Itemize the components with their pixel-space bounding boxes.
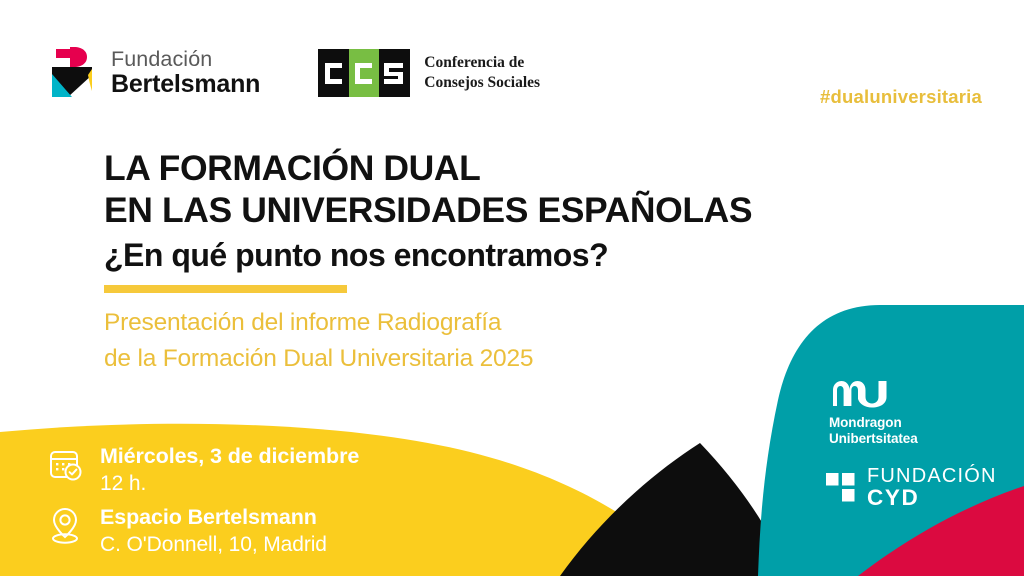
bertelsmann-wordmark: Fundación Bertelsmann <box>111 49 260 98</box>
event-date: Miércoles, 3 de diciembre <box>100 443 359 471</box>
event-date-text: Miércoles, 3 de diciembre 12 h. <box>100 443 359 497</box>
subtitle-block: Presentación del informe Radiografía de … <box>104 305 533 376</box>
logo-bar: Fundación Bertelsmann <box>48 45 540 101</box>
event-details: Miércoles, 3 de diciembre 12 h. Espacio … <box>48 443 359 559</box>
mondragon-line1: Mondragon <box>829 415 918 431</box>
logo-fundacion-bertelsmann: Fundación Bertelsmann <box>48 45 260 101</box>
subtitle-line2: de la Formación Dual Universitaria 2025 <box>104 341 533 377</box>
ccs-mark-icon <box>318 49 410 97</box>
mondragon-mu-mark-icon <box>829 378 891 408</box>
yellow-divider-rule <box>104 285 347 293</box>
logo-conferencia-consejos-sociales: Conferencia de Consejos Sociales <box>318 49 540 97</box>
event-address: C. O'Donnell, 10, Madrid <box>100 532 327 559</box>
ccs-wordmark: Conferencia de Consejos Sociales <box>424 53 540 94</box>
map-pin-icon <box>48 506 84 546</box>
event-place-row: Espacio Bertelsmann C. O'Donnell, 10, Ma… <box>48 504 359 558</box>
bertelsmann-line1: Fundación <box>111 49 260 71</box>
cyd-squares-mark-icon <box>826 473 856 503</box>
calendar-check-icon <box>48 445 84 485</box>
event-date-row: Miércoles, 3 de diciembre 12 h. <box>48 443 359 497</box>
headline-line3: ¿En qué punto nos encontramos? <box>104 236 752 274</box>
logo-fundacion-cyd: FUNDACIÓN CYD <box>826 466 997 510</box>
poster-canvas: Fundación Bertelsmann <box>0 0 1024 576</box>
event-place-text: Espacio Bertelsmann C. O'Donnell, 10, Ma… <box>100 504 327 558</box>
bertelsmann-line2: Bertelsmann <box>111 72 260 97</box>
event-venue: Espacio Bertelsmann <box>100 504 327 532</box>
mondragon-wordmark: Mondragon Unibertsitatea <box>829 415 918 448</box>
headline-line2: EN LAS UNIVERSIDADES ESPAÑOLAS <box>104 190 752 232</box>
ccs-line1: Conferencia de <box>424 53 540 73</box>
subtitle-line1: Presentación del informe Radiografía <box>104 305 533 341</box>
ccs-line2: Consejos Sociales <box>424 73 540 93</box>
cyd-line2: CYD <box>867 487 997 510</box>
logo-mondragon-unibertsitatea: Mondragon Unibertsitatea <box>829 378 918 448</box>
headline-line1: LA FORMACIÓN DUAL <box>104 148 752 190</box>
mondragon-line2: Unibertsitatea <box>829 431 918 447</box>
cyd-wordmark: FUNDACIÓN CYD <box>867 466 997 510</box>
cyd-line1: FUNDACIÓN <box>867 466 997 486</box>
hashtag: #dualuniversitaria <box>820 86 982 108</box>
headline-block: LA FORMACIÓN DUAL EN LAS UNIVERSIDADES E… <box>104 148 752 274</box>
event-time: 12 h. <box>100 471 359 498</box>
bertelsmann-mark-icon <box>48 45 98 101</box>
